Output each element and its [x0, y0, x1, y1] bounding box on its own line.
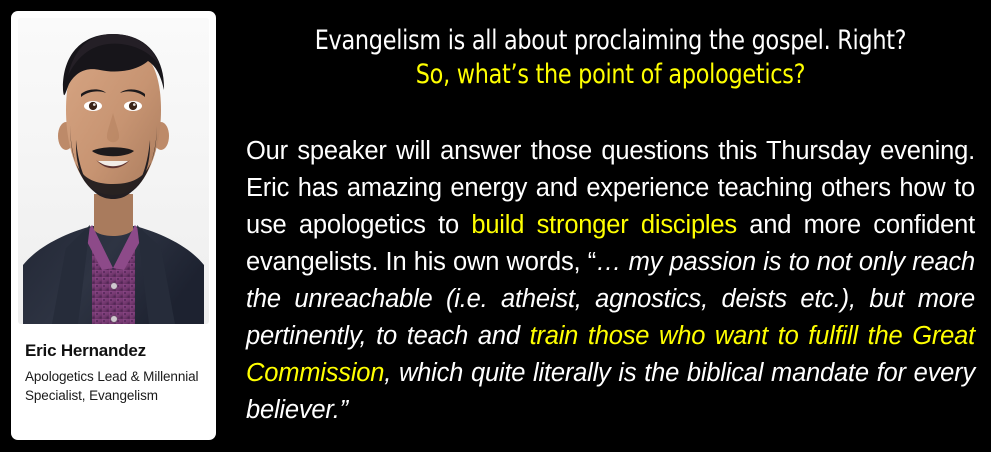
speaker-headshot-photo — [18, 18, 209, 324]
body-highlight-build-stronger-disciples: build stronger disciples — [471, 211, 737, 239]
headline-line-1: Evangelism is all about proclaiming the … — [275, 24, 946, 58]
headline-line-2: So, what’s the point of apologetics? — [275, 58, 946, 92]
speaker-role: Apologetics Lead & Millennial Specialist… — [25, 368, 208, 405]
speaker-card-text: Eric Hernandez Apologetics Lead & Millen… — [25, 341, 208, 405]
headline-block: Evangelism is all about proclaiming the … — [275, 24, 946, 92]
slide-content: Evangelism is all about proclaiming the … — [246, 0, 975, 452]
body-paragraph: Our speaker will answer those questions … — [246, 133, 975, 429]
speaker-name: Eric Hernandez — [25, 341, 208, 361]
speaker-card: Eric Hernandez Apologetics Lead & Millen… — [11, 11, 216, 440]
presentation-slide: Eric Hernandez Apologetics Lead & Millen… — [0, 0, 991, 452]
